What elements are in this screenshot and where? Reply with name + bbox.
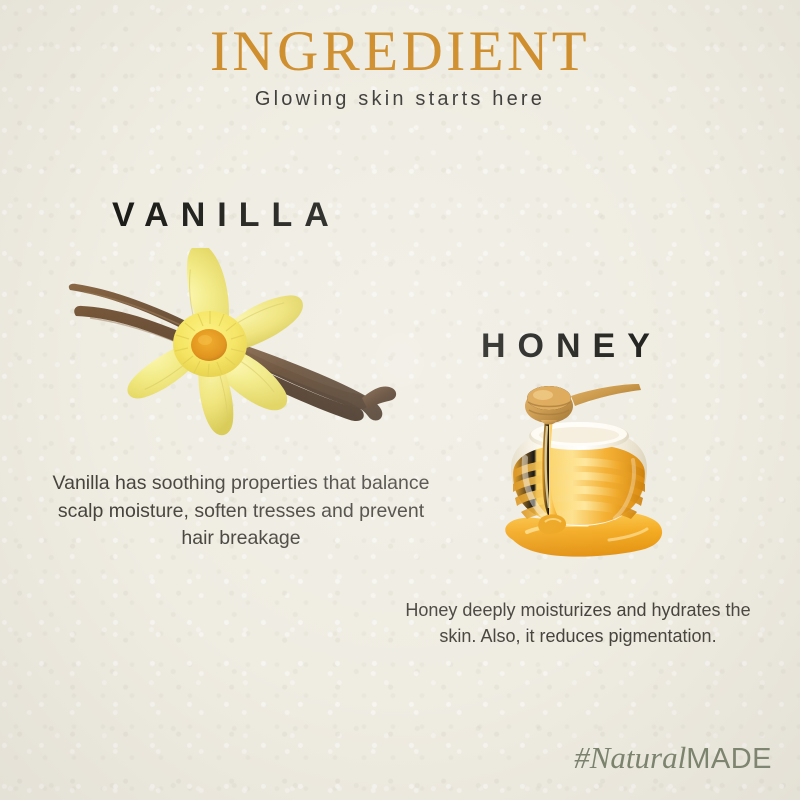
- ingredient-description-honey: Honey deeply moisturizes and hydrates th…: [392, 598, 764, 649]
- honey-dipper: [525, 384, 641, 425]
- honey-jar-illustration: [483, 382, 675, 578]
- vanilla-flower-center: [173, 311, 247, 377]
- page-subtitle: Glowing skin starts here: [0, 88, 800, 111]
- vanilla-flower-illustration: [62, 248, 402, 453]
- ingredient-poster: INGREDIENT Glowing skin starts here VANI…: [0, 0, 800, 800]
- ingredient-description-vanilla: Vanilla has soothing properties that bal…: [52, 470, 430, 553]
- honey-jar-body: [511, 422, 647, 526]
- poster-header: INGREDIENT Glowing skin starts here: [0, 22, 800, 111]
- brand-hashtag: #NaturalMADE: [574, 740, 772, 776]
- hashtag-made-text: MADE: [686, 743, 772, 775]
- page-title: INGREDIENT: [0, 22, 800, 81]
- ingredient-heading-honey: HONEY: [481, 327, 662, 366]
- hashtag-natural-text: #Natural: [574, 740, 686, 775]
- ingredient-heading-vanilla: VANILLA: [112, 196, 341, 235]
